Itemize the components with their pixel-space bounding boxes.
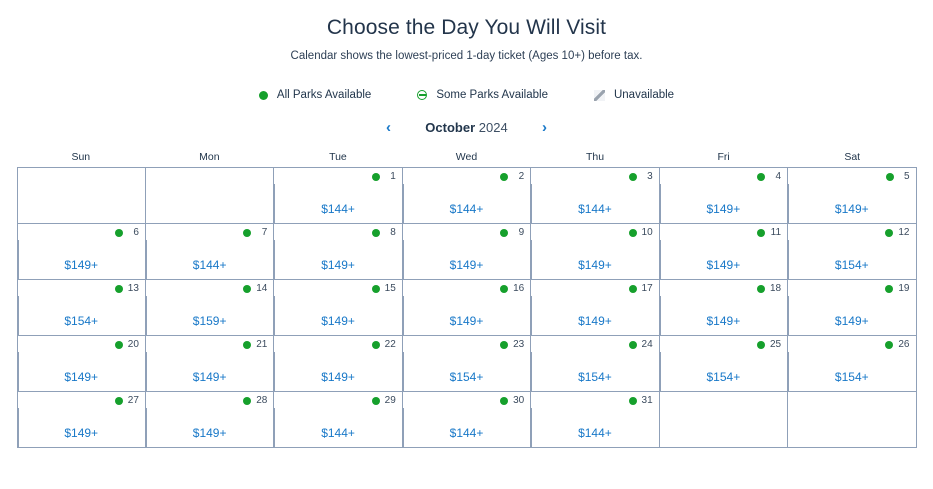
calendar-day-cell[interactable]: 19$149+ [788, 280, 916, 336]
calendar-day-cell[interactable]: 30$144+ [403, 392, 531, 448]
all-parks-available-icon [372, 285, 380, 293]
day-price-link[interactable]: $149+ [660, 297, 787, 335]
day-number: 25 [770, 339, 781, 351]
filled-green-dot-icon [259, 91, 268, 100]
day-cell-header: 18 [660, 280, 787, 297]
day-number: 22 [385, 339, 396, 351]
day-price-link[interactable]: $149+ [18, 353, 145, 391]
day-cell-header: 24 [531, 336, 658, 353]
day-price-link[interactable]: $149+ [788, 185, 915, 223]
legend-item-unavailable: Unavailable [594, 88, 674, 102]
calendar-day-cell[interactable]: 20$149+ [18, 336, 146, 392]
day-price-link[interactable]: $144+ [274, 185, 401, 223]
calendar-day-cell[interactable]: 10$149+ [531, 224, 659, 280]
all-parks-available-icon [886, 173, 894, 181]
day-number: 6 [128, 227, 139, 239]
day-price-link[interactable]: $154+ [18, 297, 145, 335]
month-navigation: ‹ October 2024 › [0, 118, 933, 138]
day-price-link[interactable]: $149+ [531, 297, 658, 335]
all-parks-available-icon [372, 341, 380, 349]
day-number: 14 [256, 283, 267, 295]
gray-diagonal-hatch-icon [594, 90, 605, 101]
day-number: 21 [256, 339, 267, 351]
weekday-header-row: SunMonTueWedThuFriSat [17, 150, 917, 167]
day-price-link[interactable]: $149+ [403, 241, 530, 279]
day-cell-header: 10 [531, 224, 658, 241]
calendar-day-cell[interactable]: 5$149+ [788, 168, 916, 224]
day-number: 16 [513, 283, 524, 295]
all-parks-available-icon [372, 397, 380, 405]
day-cell-header: 30 [403, 392, 530, 409]
calendar: SunMonTueWedThuFriSat 1$144+2$144+3$144+… [17, 150, 917, 448]
day-cell-header: 17 [531, 280, 658, 297]
day-cell-header: 5 [788, 168, 915, 185]
calendar-day-cell[interactable]: 24$154+ [531, 336, 659, 392]
calendar-day-cell[interactable]: 2$144+ [403, 168, 531, 224]
day-price-link[interactable]: $144+ [531, 409, 658, 447]
all-parks-available-icon [500, 341, 508, 349]
day-number: 29 [385, 395, 396, 407]
day-price-link[interactable]: $149+ [274, 353, 401, 391]
calendar-day-cell[interactable]: 9$149+ [403, 224, 531, 280]
day-number: 8 [385, 227, 396, 239]
calendar-day-cell[interactable]: 18$149+ [660, 280, 788, 336]
day-price-link[interactable]: $159+ [146, 297, 273, 335]
day-cell-header: 16 [403, 280, 530, 297]
all-parks-available-icon [629, 397, 637, 405]
day-price-link[interactable]: $144+ [531, 185, 658, 223]
day-price-link[interactable]: $149+ [788, 297, 915, 335]
all-parks-available-icon [629, 229, 637, 237]
day-cell-header: 23 [403, 336, 530, 353]
calendar-day-cell[interactable]: 15$149+ [274, 280, 402, 336]
calendar-day-cell[interactable]: 31$144+ [531, 392, 659, 448]
calendar-day-cell[interactable]: 7$144+ [146, 224, 274, 280]
weekday-header-mon: Mon [145, 150, 274, 167]
day-cell-header: 9 [403, 224, 530, 241]
day-number: 5 [899, 171, 910, 183]
all-parks-available-icon [115, 229, 123, 237]
calendar-day-cell[interactable]: 12$154+ [788, 224, 916, 280]
day-number: 28 [256, 395, 267, 407]
day-cell-header: 7 [146, 224, 273, 241]
weekday-header-fri: Fri [659, 150, 788, 167]
day-price-link[interactable]: $144+ [146, 241, 273, 279]
day-number: 30 [513, 395, 524, 407]
calendar-day-cell[interactable]: 13$154+ [18, 280, 146, 336]
legend-item-all-parks: All Parks Available [259, 88, 371, 102]
day-price-empty [660, 409, 787, 447]
day-price-link[interactable]: $149+ [146, 409, 273, 447]
weekday-header-tue: Tue [274, 150, 403, 167]
calendar-day-cell[interactable]: 6$149+ [18, 224, 146, 280]
calendar-empty-cell [18, 168, 146, 224]
calendar-week-row: 20$149+21$149+22$149+23$154+24$154+25$15… [18, 336, 917, 392]
all-parks-available-icon [243, 397, 251, 405]
calendar-grid: 1$144+2$144+3$144+4$149+5$149+6$149+7$14… [17, 167, 917, 448]
day-number: 20 [128, 339, 139, 351]
day-cell-header: 2 [403, 168, 530, 185]
calendar-page: Choose the Day You Will Visit Calendar s… [0, 0, 933, 489]
day-number: 1 [385, 171, 396, 183]
day-cell-header: 31 [531, 392, 658, 409]
day-number: 13 [128, 283, 139, 295]
calendar-day-cell[interactable]: 8$149+ [274, 224, 402, 280]
day-price-empty [788, 409, 915, 447]
day-price-link[interactable]: $149+ [18, 241, 145, 279]
day-cell-header: 29 [274, 392, 401, 409]
day-cell-header: 21 [146, 336, 273, 353]
calendar-week-row: 13$154+14$159+15$149+16$149+17$149+18$14… [18, 280, 917, 336]
day-cell-header: 25 [660, 336, 787, 353]
day-cell-header [660, 392, 787, 409]
legend-label-some-parks: Some Parks Available [436, 88, 548, 102]
calendar-day-cell[interactable]: 26$154+ [788, 336, 916, 392]
day-cell-header: 3 [531, 168, 658, 185]
day-cell-header [788, 392, 915, 409]
all-parks-available-icon [243, 285, 251, 293]
day-number: 3 [642, 171, 653, 183]
day-cell-header: 1 [274, 168, 401, 185]
half-green-circle-icon [417, 90, 427, 100]
calendar-day-cell[interactable]: 23$154+ [403, 336, 531, 392]
day-price-link[interactable]: $154+ [531, 353, 658, 391]
legend-label-unavailable: Unavailable [614, 88, 674, 102]
day-cell-header: 13 [18, 280, 145, 297]
month-name: October [425, 120, 475, 135]
page-subtitle: Calendar shows the lowest-priced 1-day t… [0, 48, 933, 64]
day-price-link[interactable]: $149+ [660, 241, 787, 279]
day-price-link[interactable]: $149+ [660, 185, 787, 223]
all-parks-available-icon [243, 229, 251, 237]
calendar-empty-cell [146, 168, 274, 224]
day-cell-header: 15 [274, 280, 401, 297]
day-cell-header: 19 [788, 280, 915, 297]
all-parks-available-icon [629, 341, 637, 349]
day-cell-header: 27 [18, 392, 145, 409]
all-parks-available-icon [629, 173, 637, 181]
day-price-link[interactable]: $144+ [403, 185, 530, 223]
all-parks-available-icon [243, 341, 251, 349]
day-cell-header: 14 [146, 280, 273, 297]
day-number: 23 [513, 339, 524, 351]
day-cell-header: 20 [18, 336, 145, 353]
day-price-link[interactable]: $154+ [788, 353, 915, 391]
day-cell-header [146, 168, 273, 185]
availability-legend: All Parks Available Some Parks Available… [0, 86, 933, 104]
day-number: 27 [128, 395, 139, 407]
day-price-link[interactable]: $154+ [788, 241, 915, 279]
day-price-link[interactable]: $154+ [403, 353, 530, 391]
all-parks-available-icon [757, 285, 765, 293]
day-price-empty [146, 185, 273, 223]
calendar-day-cell[interactable]: 3$144+ [531, 168, 659, 224]
calendar-week-row: 6$149+7$144+8$149+9$149+10$149+11$149+12… [18, 224, 917, 280]
calendar-day-cell[interactable]: 11$149+ [660, 224, 788, 280]
day-number: 12 [898, 227, 909, 239]
all-parks-available-icon [757, 173, 765, 181]
day-number: 7 [256, 227, 267, 239]
calendar-day-cell[interactable]: 14$159+ [146, 280, 274, 336]
calendar-day-cell[interactable]: 4$149+ [660, 168, 788, 224]
calendar-day-cell[interactable]: 22$149+ [274, 336, 402, 392]
calendar-week-row: 1$144+2$144+3$144+4$149+5$149+ [18, 168, 917, 224]
day-price-link[interactable]: $154+ [660, 353, 787, 391]
day-cell-header: 6 [18, 224, 145, 241]
legend-label-all-parks: All Parks Available [277, 88, 371, 102]
day-number: 26 [898, 339, 909, 351]
weekday-header-sat: Sat [788, 150, 917, 167]
current-month-label: October 2024 [406, 118, 528, 138]
day-number: 17 [642, 283, 653, 295]
day-cell-header: 12 [788, 224, 915, 241]
all-parks-available-icon [372, 229, 380, 237]
all-parks-available-icon [757, 229, 765, 237]
day-price-link[interactable]: $149+ [274, 297, 401, 335]
weekday-header-sun: Sun [17, 150, 146, 167]
weekday-header-wed: Wed [402, 150, 531, 167]
all-parks-available-icon [500, 397, 508, 405]
all-parks-available-icon [885, 285, 893, 293]
all-parks-available-icon [757, 341, 765, 349]
calendar-empty-cell [660, 392, 788, 448]
day-cell-header: 28 [146, 392, 273, 409]
weekday-header-thu: Thu [531, 150, 660, 167]
prev-month-button[interactable]: ‹ [372, 118, 406, 138]
day-number: 18 [770, 283, 781, 295]
day-price-link[interactable]: $149+ [18, 409, 145, 447]
day-number: 31 [642, 395, 653, 407]
day-number: 10 [642, 227, 653, 239]
calendar-day-cell[interactable]: 1$144+ [274, 168, 402, 224]
calendar-week-row: 27$149+28$149+29$144+30$144+31$144+ [18, 392, 917, 448]
all-parks-available-icon [115, 397, 123, 405]
day-number: 9 [513, 227, 524, 239]
all-parks-available-icon [500, 173, 508, 181]
all-parks-available-icon [885, 229, 893, 237]
day-cell-header: 26 [788, 336, 915, 353]
all-parks-available-icon [500, 285, 508, 293]
day-number: 24 [642, 339, 653, 351]
day-number: 2 [513, 171, 524, 183]
day-number: 19 [898, 283, 909, 295]
day-cell-header [18, 168, 145, 185]
all-parks-available-icon [115, 341, 123, 349]
day-cell-header: 4 [660, 168, 787, 185]
page-title: Choose the Day You Will Visit [0, 14, 933, 42]
all-parks-available-icon [115, 285, 123, 293]
day-cell-header: 11 [660, 224, 787, 241]
day-number: 4 [770, 171, 781, 183]
day-price-link[interactable]: $144+ [274, 409, 401, 447]
day-price-link[interactable]: $149+ [146, 353, 273, 391]
day-price-link[interactable]: $149+ [274, 241, 401, 279]
month-year: 2024 [479, 120, 508, 135]
calendar-empty-cell [788, 392, 916, 448]
all-parks-available-icon [885, 341, 893, 349]
calendar-day-cell[interactable]: 28$149+ [146, 392, 274, 448]
calendar-day-cell[interactable]: 17$149+ [531, 280, 659, 336]
day-number: 15 [385, 283, 396, 295]
all-parks-available-icon [372, 173, 380, 181]
calendar-day-cell[interactable]: 16$149+ [403, 280, 531, 336]
all-parks-available-icon [629, 285, 637, 293]
day-cell-header: 8 [274, 224, 401, 241]
calendar-day-cell[interactable]: 25$154+ [660, 336, 788, 392]
day-price-link[interactable]: $149+ [403, 297, 530, 335]
calendar-day-cell[interactable]: 21$149+ [146, 336, 274, 392]
calendar-day-cell[interactable]: 27$149+ [18, 392, 146, 448]
day-price-link[interactable]: $144+ [403, 409, 530, 447]
day-price-link[interactable]: $149+ [531, 241, 658, 279]
next-month-button[interactable]: › [528, 118, 562, 138]
legend-item-some-parks: Some Parks Available [417, 88, 548, 102]
day-price-empty [18, 185, 145, 223]
all-parks-available-icon [500, 229, 508, 237]
day-number: 11 [770, 227, 781, 239]
day-cell-header: 22 [274, 336, 401, 353]
calendar-day-cell[interactable]: 29$144+ [274, 392, 402, 448]
